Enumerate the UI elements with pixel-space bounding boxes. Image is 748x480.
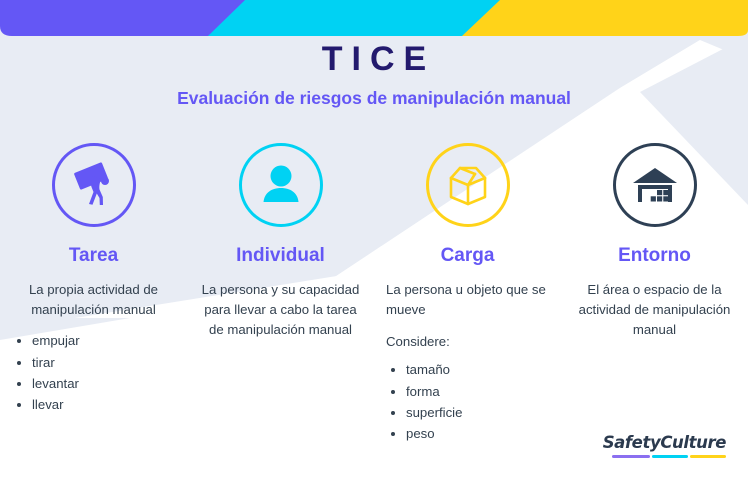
column-title-individual: Individual <box>199 245 362 267</box>
column-title-carga: Carga <box>386 245 549 267</box>
list-item: forma <box>406 381 549 402</box>
open-box-icon <box>441 158 495 212</box>
column-tarea: Tarea La propia actividad de manipulació… <box>0 143 187 416</box>
column-title-tarea: Tarea <box>12 245 175 267</box>
column-entorno: Entorno El área o espacio de la activida… <box>561 143 748 340</box>
page-subtitle: Evaluación de riesgos de manipulación ma… <box>0 88 748 109</box>
logo-bar-cyan <box>652 455 688 459</box>
consider-label-carga: Considere: <box>386 334 549 349</box>
column-body-entorno: El área o espacio de la actividad de man… <box>573 280 736 340</box>
page-title: TICE <box>0 40 748 79</box>
list-item: empujar <box>32 330 175 351</box>
list-item: levantar <box>32 373 175 394</box>
column-body-tarea: La propia actividad de manipulación manu… <box>12 280 175 320</box>
bullet-list-carga: tamaño forma superficie peso <box>386 359 549 445</box>
column-title-entorno: Entorno <box>573 245 736 267</box>
icon-wrap-individual <box>199 143 362 227</box>
list-item: llevar <box>32 394 175 415</box>
list-item: superficie <box>406 402 549 423</box>
content-root: TICE Evaluación de riesgos de manipulaci… <box>0 0 748 480</box>
column-body-individual: La persona y su capacidad para llevar a … <box>199 280 362 340</box>
icon-circle-tarea <box>52 143 136 227</box>
icon-circle-entorno <box>613 143 697 227</box>
columns-row: Tarea La propia actividad de manipulació… <box>0 143 748 445</box>
person-silhouette-icon <box>255 159 307 211</box>
bullet-list-tarea: empujar tirar levantar llevar <box>12 330 175 416</box>
safetyculture-logo[interactable]: SafetyCulture <box>603 435 726 458</box>
warehouse-icon <box>629 159 681 211</box>
logo-bar-purple <box>612 455 650 459</box>
column-body-carga: La persona u objeto que se mueve <box>386 280 549 320</box>
icon-wrap-tarea <box>12 143 175 227</box>
icon-circle-individual <box>239 143 323 227</box>
icon-circle-carga <box>426 143 510 227</box>
list-item: tirar <box>32 352 175 373</box>
person-carrying-box-icon <box>68 159 120 211</box>
logo-bar-yellow <box>690 455 726 459</box>
safetyculture-logo-text: SafetyCulture <box>603 435 726 452</box>
column-carga: Carga La persona u objeto que se mueve C… <box>374 143 561 445</box>
list-item: peso <box>406 423 549 444</box>
safetyculture-logo-bars <box>603 455 726 459</box>
icon-wrap-entorno <box>573 143 736 227</box>
icon-wrap-carga <box>386 143 549 227</box>
column-individual: Individual La persona y su capacidad par… <box>187 143 374 340</box>
list-item: tamaño <box>406 359 549 380</box>
